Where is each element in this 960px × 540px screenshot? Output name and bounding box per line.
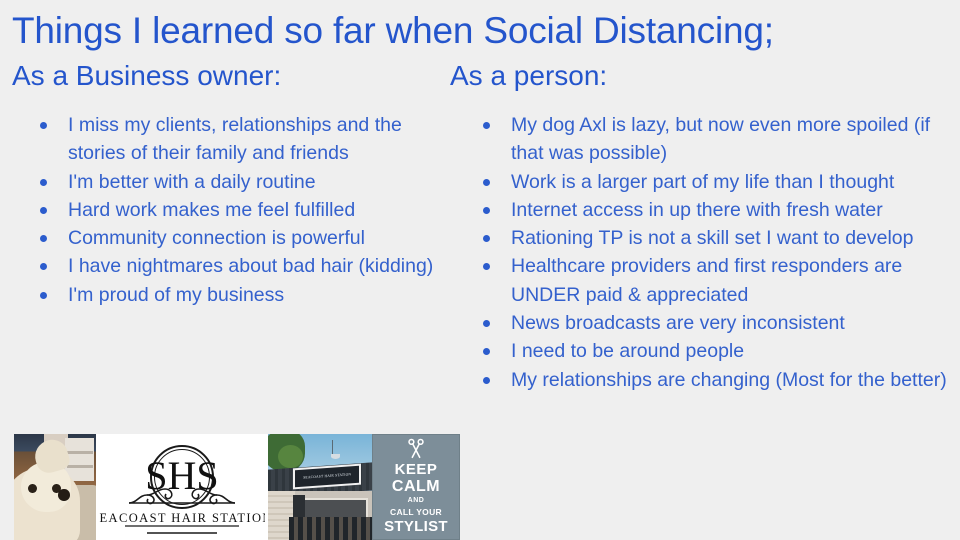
list-item-text: Hard work makes me feel fulfilled	[68, 199, 355, 221]
bullet-icon	[40, 235, 47, 242]
logo-wordmark: SEACOAST HAIR STATION	[99, 511, 265, 525]
bullet-icon	[483, 320, 490, 327]
bullet-icon	[40, 122, 47, 129]
slide-canvas: Things I learned so far when Social Dist…	[0, 0, 960, 540]
list-item: Internet access in up there with fresh w…	[477, 196, 947, 224]
list-item: News broadcasts are very inconsistent	[477, 309, 947, 337]
bullet-icon	[40, 292, 47, 299]
bullet-icon	[483, 348, 490, 355]
storefront-sign: SEACOAST HAIR STATION	[293, 463, 361, 489]
bullet-icon	[483, 207, 490, 214]
person-bullet-list: My dog Axl is lazy, but now even more sp…	[477, 111, 947, 394]
bullet-icon	[40, 207, 47, 214]
bullet-icon	[483, 377, 490, 384]
list-item: I'm proud of my business	[34, 281, 454, 309]
business-column: I miss my clients, relationships and the…	[34, 111, 454, 309]
bullet-icon	[483, 235, 490, 242]
bullet-icon	[483, 122, 490, 129]
list-item-text: My dog Axl is lazy, but now even more sp…	[511, 114, 930, 164]
list-item: Rationing TP is not a skill set I want t…	[477, 224, 947, 252]
list-item-text: Community connection is powerful	[68, 227, 365, 249]
bullet-icon	[40, 179, 47, 186]
bullet-icon	[483, 263, 490, 270]
list-item-text: Work is a larger part of my life than I …	[511, 171, 894, 193]
keep-calm-poster: KEEP CALM AND CALL YOUR STYLIST	[372, 434, 460, 540]
scissors-icon	[405, 438, 427, 460]
keep-calm-line-3: AND	[408, 495, 425, 506]
list-item: I miss my clients, relationships and the…	[34, 111, 454, 168]
list-item-text: News broadcasts are very inconsistent	[511, 312, 845, 334]
person-column-heading: As a person:	[450, 58, 607, 94]
list-item-text: I need to be around people	[511, 340, 744, 362]
hanging-lamp-icon	[332, 440, 340, 457]
list-item: I have nightmares about bad hair (kiddin…	[34, 252, 454, 280]
list-item-text: I miss my clients, relationships and the…	[68, 114, 402, 164]
photo-strip: SHS SEACOAST HAIR STATION SEACOAST HAIR …	[14, 434, 460, 540]
list-item: My dog Axl is lazy, but now even more sp…	[477, 111, 947, 168]
logo-monogram: SHS	[145, 453, 218, 498]
tree-foliage	[278, 445, 303, 468]
list-item-text: Healthcare providers and first responder…	[511, 255, 902, 305]
list-item-text: Internet access in up there with fresh w…	[511, 199, 883, 221]
list-item-text: Rationing TP is not a skill set I want t…	[511, 227, 914, 249]
seacoast-hair-station-logo: SHS SEACOAST HAIR STATION	[96, 434, 268, 540]
salon-storefront-photo: SEACOAST HAIR STATION	[268, 434, 372, 540]
list-item: I need to be around people	[477, 337, 947, 365]
storefront-sign-text: SEACOAST HAIR STATION	[295, 466, 359, 487]
dog-photo	[14, 434, 96, 540]
person-column: My dog Axl is lazy, but now even more sp…	[477, 111, 947, 394]
list-item-text: My relationships are changing (Most for …	[511, 369, 947, 391]
list-item: Hard work makes me feel fulfilled	[34, 196, 454, 224]
keep-calm-line-5: STYLIST	[384, 518, 448, 536]
dog-nose	[58, 489, 69, 501]
logo-artwork: SHS SEACOAST HAIR STATION	[99, 437, 265, 537]
bullet-icon	[483, 179, 490, 186]
keep-calm-line-1: KEEP	[395, 462, 438, 478]
list-item-text: I have nightmares about bad hair (kiddin…	[68, 255, 433, 277]
list-item: Work is a larger part of my life than I …	[477, 168, 947, 196]
list-item-text: I'm better with a daily routine	[68, 171, 316, 193]
business-bullet-list: I miss my clients, relationships and the…	[34, 111, 454, 309]
list-item: Community connection is powerful	[34, 224, 454, 252]
bullet-icon	[40, 263, 47, 270]
slide-title: Things I learned so far when Social Dist…	[12, 8, 948, 54]
list-item: I'm better with a daily routine	[34, 168, 454, 196]
keep-calm-line-4: CALL YOUR	[390, 506, 442, 518]
list-item-text: I'm proud of my business	[68, 284, 284, 306]
porch-railing	[289, 517, 372, 540]
keep-calm-line-2: CALM	[392, 478, 440, 495]
list-item: My relationships are changing (Most for …	[477, 366, 947, 394]
list-item: Healthcare providers and first responder…	[477, 252, 947, 309]
business-column-heading: As a Business owner:	[12, 58, 281, 94]
